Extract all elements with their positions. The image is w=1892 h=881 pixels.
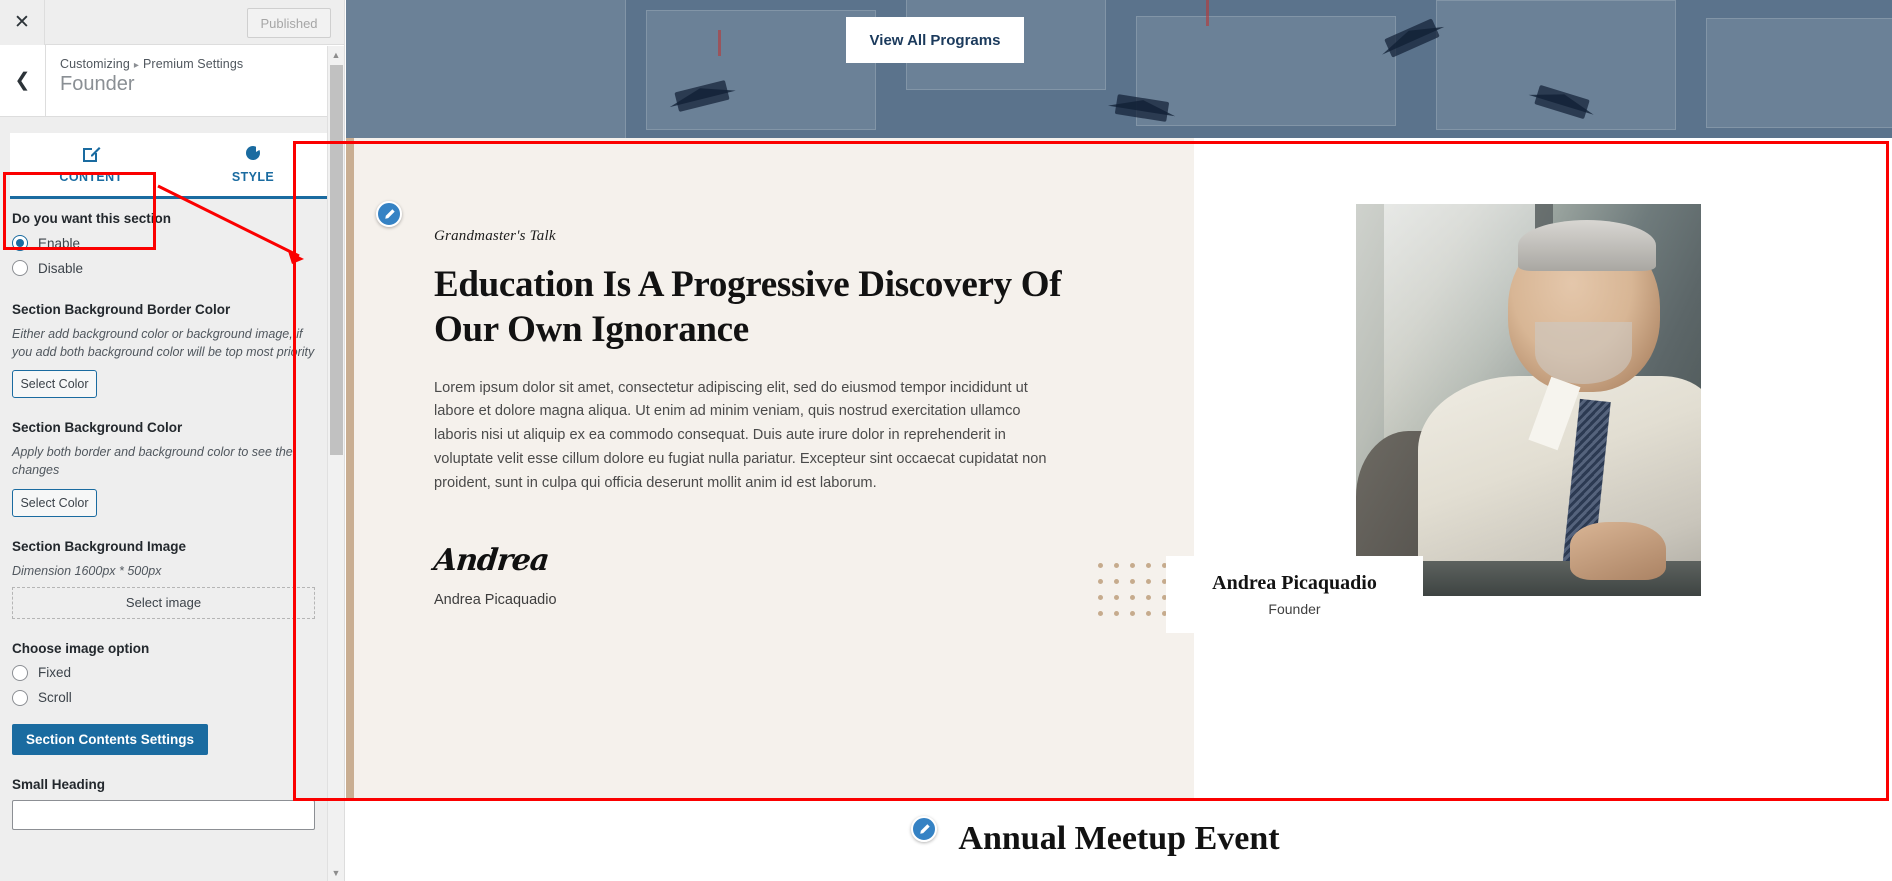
founder-small-heading: Grandmaster's Talk [434, 228, 1114, 245]
radio-fixed[interactable]: Fixed [12, 665, 315, 681]
customizer-topbar: ✕ Published [0, 0, 344, 45]
radio-disable-label: Disable [38, 261, 83, 276]
founder-title: Education Is A Progressive Discovery Of … [434, 263, 1114, 353]
pencil-edit-icon[interactable] [911, 816, 937, 842]
field-bg-border-color: Section Background Border Color Either a… [12, 302, 315, 398]
radio-disable-input[interactable] [12, 260, 28, 276]
page-title: Founder [60, 73, 243, 96]
founder-portrait-image [1356, 204, 1701, 596]
tab-style-label: STYLE [232, 170, 274, 184]
radio-scroll[interactable]: Scroll [12, 690, 315, 706]
bg-border-color-description: Either add background color or backgroun… [12, 325, 315, 361]
site-preview: View All Programs Grandmaster's Talk Edu… [346, 0, 1892, 881]
radio-enable-label: Enable [38, 236, 80, 251]
customizer-tabs: CONTENT STYLE [10, 133, 334, 199]
graduation-cap-icon [1115, 94, 1169, 122]
field-bg-image: Section Background Image Dimension 1600p… [12, 539, 315, 619]
close-x-icon[interactable]: ✕ [0, 0, 45, 45]
founder-card-name: Andrea Picaquadio [1212, 572, 1377, 595]
tab-content[interactable]: CONTENT [10, 133, 172, 196]
select-bg-color-button[interactable]: Select Color [12, 489, 97, 517]
enable-section-label: Do you want this section [12, 211, 315, 226]
view-all-programs-button[interactable]: View All Programs [846, 17, 1024, 63]
small-heading-input[interactable] [12, 800, 315, 830]
radio-enable-input[interactable] [12, 235, 28, 251]
radio-disable[interactable]: Disable [12, 260, 315, 276]
cap-tassel [1206, 0, 1209, 26]
founder-paragraph: Lorem ipsum dolor sit amet, consectetur … [434, 377, 1059, 496]
bg-image-description: Dimension 1600px * 500px [12, 562, 315, 580]
field-contents-settings: Section Contents Settings [12, 724, 315, 755]
tab-content-label: CONTENT [59, 170, 122, 184]
scrollbar-thumb[interactable] [330, 65, 343, 455]
bg-color-description: Apply both border and background color t… [12, 443, 315, 479]
founder-signature-name: Andrea Picaquadio [434, 592, 1114, 608]
bg-image-label: Section Background Image [12, 539, 315, 554]
chevron-down-icon[interactable]: ▼ [328, 864, 344, 881]
hero-building-shape [346, 0, 626, 138]
breadcrumb-root[interactable]: Customizing [60, 57, 130, 71]
breadcrumb: Customizing▸Premium Settings [60, 57, 243, 71]
next-section-heading: Annual Meetup Event [346, 820, 1892, 858]
paint-brush-icon [172, 144, 334, 164]
field-small-heading: Small Heading [12, 777, 315, 830]
hero-banner-image: View All Programs [346, 0, 1892, 138]
radio-fixed-label: Fixed [38, 665, 71, 680]
edit-square-icon [10, 144, 172, 164]
customizer-scrollbar[interactable]: ▲ ▼ [327, 46, 344, 881]
cap-tassel [718, 30, 721, 56]
chevron-left-icon[interactable]: ❮ [0, 45, 46, 116]
customizer-title-group: Customizing▸Premium Settings Founder [46, 45, 243, 116]
tab-style[interactable]: STYLE [172, 133, 334, 196]
field-image-option: Choose image option Fixed Scroll [12, 641, 315, 706]
customizer-controls: Do you want this section Enable Disable … [0, 195, 327, 881]
radio-enable[interactable]: Enable [12, 235, 315, 251]
field-enable-section: Do you want this section Enable Disable [12, 211, 315, 276]
radio-scroll-label: Scroll [38, 690, 72, 705]
breadcrumb-separator-icon: ▸ [134, 60, 139, 71]
founder-name-card: Andrea Picaquadio Founder [1166, 556, 1423, 633]
select-border-color-button[interactable]: Select Color [12, 370, 97, 398]
bg-border-color-label: Section Background Border Color [12, 302, 315, 317]
pencil-edit-icon[interactable] [376, 201, 402, 227]
radio-fixed-input[interactable] [12, 665, 28, 681]
section-contents-settings-button[interactable]: Section Contents Settings [12, 724, 208, 755]
hero-building-shape [646, 10, 876, 130]
founder-signature: Andrea [432, 543, 550, 578]
breadcrumb-parent[interactable]: Premium Settings [143, 57, 243, 71]
publish-button[interactable]: Published [247, 8, 331, 38]
founder-section: Grandmaster's Talk Education Is A Progre… [346, 138, 1892, 800]
chevron-up-icon[interactable]: ▲ [328, 46, 344, 63]
field-bg-color: Section Background Color Apply both bord… [12, 420, 315, 516]
radio-scroll-input[interactable] [12, 690, 28, 706]
hero-building-shape [1706, 18, 1892, 128]
founder-card-role: Founder [1268, 601, 1320, 617]
image-option-label: Choose image option [12, 641, 315, 656]
small-heading-label: Small Heading [12, 777, 315, 792]
founder-text-block: Grandmaster's Talk Education Is A Progre… [434, 228, 1114, 608]
customizer-panel: ✕ Published ❮ Customizing▸Premium Settin… [0, 0, 345, 881]
customizer-header: ❮ Customizing▸Premium Settings Founder [0, 45, 344, 117]
select-image-button[interactable]: Select image [12, 587, 315, 619]
bg-color-label: Section Background Color [12, 420, 315, 435]
